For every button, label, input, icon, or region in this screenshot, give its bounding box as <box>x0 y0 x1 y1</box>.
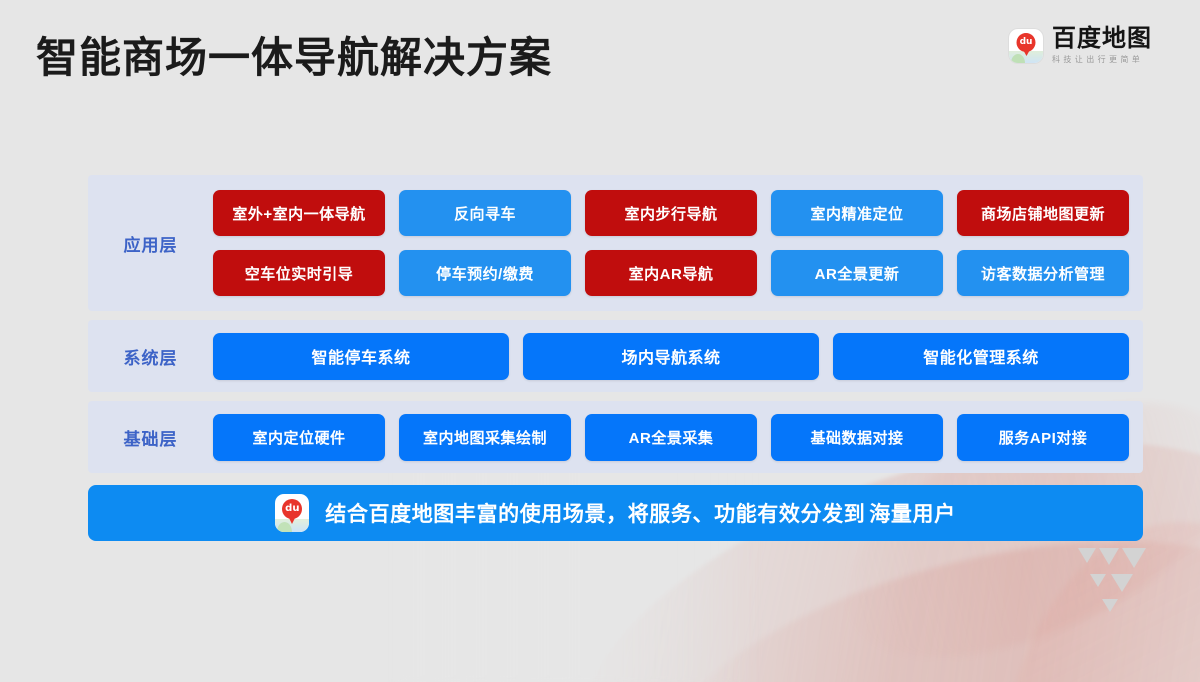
banner-message-highlight: 海量用户 <box>869 503 955 526</box>
layer-body-system: 智能停车系统 场内导航系统 智能化管理系统 <box>213 333 1143 380</box>
layer-band-application: 应用层 室外+室内一体导航 反向寻车 室内步行导航 室内精准定位 商场店铺地图更… <box>88 175 1143 311</box>
chip-row: 空车位实时引导 停车预约/缴费 室内AR导航 AR全景更新 访客数据分析管理 <box>213 250 1129 296</box>
chip-indoor-map-survey[interactable]: 室内地图采集绘制 <box>399 414 571 461</box>
layer-band-system: 系统层 智能停车系统 场内导航系统 智能化管理系统 <box>88 320 1143 392</box>
page-title: 智能商场一体导航解决方案 <box>36 24 552 85</box>
layer-body-application: 室外+室内一体导航 反向寻车 室内步行导航 室内精准定位 商场店铺地图更新 空车… <box>213 190 1143 296</box>
chip-service-api-integration[interactable]: 服务API对接 <box>957 414 1129 461</box>
chip-outdoor-indoor-nav[interactable]: 室外+室内一体导航 <box>213 190 385 236</box>
chip-mall-store-map-update[interactable]: 商场店铺地图更新 <box>957 190 1129 236</box>
chip-reverse-car-finding[interactable]: 反向寻车 <box>399 190 571 236</box>
brand-name: 百度地图 <box>1052 27 1152 51</box>
chip-parking-booking-pay[interactable]: 停车预约/缴费 <box>399 250 571 296</box>
layer-band-foundation: 基础层 室内定位硬件 室内地图采集绘制 AR全景采集 基础数据对接 服务API对… <box>88 401 1143 473</box>
triangle-grid-icon <box>1078 548 1156 620</box>
chip-row: 智能停车系统 场内导航系统 智能化管理系统 <box>213 333 1129 380</box>
pin-label: du <box>1017 33 1036 52</box>
brand-text-block: 百度地图 科技让出行更简单 <box>1052 27 1152 64</box>
chip-indoor-ar-nav[interactable]: 室内AR导航 <box>585 250 757 296</box>
chip-indoor-positioning-hardware[interactable]: 室内定位硬件 <box>213 414 385 461</box>
chip-visitor-data-analysis[interactable]: 访客数据分析管理 <box>957 250 1129 296</box>
layer-label-application: 应用层 <box>88 231 213 256</box>
chip-ar-panorama-capture[interactable]: AR全景采集 <box>585 414 757 461</box>
baidu-map-pin-icon: du <box>1009 29 1043 63</box>
chip-row: 室内定位硬件 室内地图采集绘制 AR全景采集 基础数据对接 服务API对接 <box>213 414 1129 461</box>
chip-ar-panorama-update[interactable]: AR全景更新 <box>771 250 943 296</box>
banner-message: 结合百度地图丰富的使用场景，将服务、功能有效分发到海量用户 <box>325 498 955 528</box>
chip-indoor-walking-nav[interactable]: 室内步行导航 <box>585 190 757 236</box>
banner-message-main: 结合百度地图丰富的使用场景，将服务、功能有效分发到 <box>325 503 865 526</box>
chip-indoor-precise-pos[interactable]: 室内精准定位 <box>771 190 943 236</box>
pin-label: du <box>282 499 302 519</box>
layer-label-foundation: 基础层 <box>88 425 213 450</box>
footer-banner: du 结合百度地图丰富的使用场景，将服务、功能有效分发到海量用户 <box>88 485 1143 541</box>
layer-body-foundation: 室内定位硬件 室内地图采集绘制 AR全景采集 基础数据对接 服务API对接 <box>213 414 1143 461</box>
slide-canvas: 智能商场一体导航解决方案 du 百度地图 科技让出行更简单 应用层 室外+室内一… <box>0 0 1200 682</box>
layer-label-system: 系统层 <box>88 344 213 369</box>
brand-slogan: 科技让出行更简单 <box>1052 56 1152 64</box>
brand-logo: du 百度地图 科技让出行更简单 <box>1009 27 1152 64</box>
chip-smart-parking-system[interactable]: 智能停车系统 <box>213 333 509 380</box>
chip-venue-navigation-system[interactable]: 场内导航系统 <box>523 333 819 380</box>
chip-empty-parking-guide[interactable]: 空车位实时引导 <box>213 250 385 296</box>
chip-intelligent-management-system[interactable]: 智能化管理系统 <box>833 333 1129 380</box>
chip-base-data-integration[interactable]: 基础数据对接 <box>771 414 943 461</box>
architecture-stack: 应用层 室外+室内一体导航 反向寻车 室内步行导航 室内精准定位 商场店铺地图更… <box>88 175 1143 482</box>
chip-row: 室外+室内一体导航 反向寻车 室内步行导航 室内精准定位 商场店铺地图更新 <box>213 190 1129 236</box>
baidu-map-app-icon: du <box>275 494 309 532</box>
